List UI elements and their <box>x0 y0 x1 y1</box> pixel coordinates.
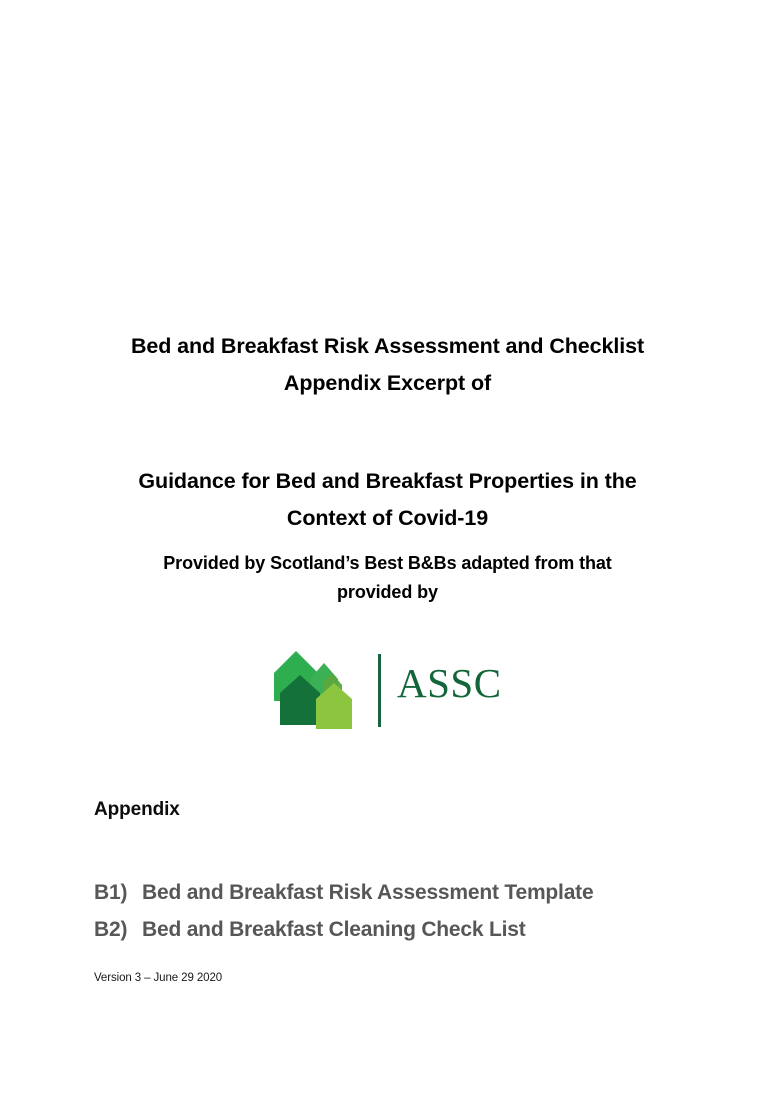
document-subtitle: Guidance for Bed and Breakfast Propertie… <box>94 463 681 537</box>
subtitle-line-1: Guidance for Bed and Breakfast Propertie… <box>94 463 681 500</box>
provided-by-line-1: Provided by Scotland’s Best B&Bs adapted… <box>94 549 681 578</box>
assc-houses-logo-icon <box>270 645 366 733</box>
version-line: Version 3 – June 29 2020 <box>94 972 222 984</box>
provided-by-line-2: provided by <box>94 578 681 607</box>
subtitle-line-2: Context of Covid-19 <box>94 500 681 537</box>
document-page: Bed and Breakfast Risk Assessment and Ch… <box>0 0 778 1100</box>
list-item: B1) Bed and Breakfast Risk Assessment Te… <box>94 874 681 911</box>
title-line-1: Bed and Breakfast Risk Assessment and Ch… <box>94 328 681 365</box>
appendix-heading: Appendix <box>94 799 180 821</box>
title-line-2: Appendix Excerpt of <box>94 365 681 402</box>
appendix-item-label: Bed and Breakfast Cleaning Check List <box>142 911 526 948</box>
logo-divider <box>378 654 381 727</box>
list-item: B2) Bed and Breakfast Cleaning Check Lis… <box>94 911 681 948</box>
assc-wordmark: ASSC <box>397 661 502 705</box>
assc-logo: ASSC <box>270 645 510 737</box>
provided-by-note: Provided by Scotland’s Best B&Bs adapted… <box>94 549 681 607</box>
document-title: Bed and Breakfast Risk Assessment and Ch… <box>94 328 681 402</box>
appendix-list: B1) Bed and Breakfast Risk Assessment Te… <box>94 874 681 948</box>
appendix-item-marker: B2) <box>94 911 142 948</box>
appendix-item-marker: B1) <box>94 874 142 911</box>
appendix-item-label: Bed and Breakfast Risk Assessment Templa… <box>142 874 593 911</box>
page-content-column: Bed and Breakfast Risk Assessment and Ch… <box>94 0 681 1100</box>
